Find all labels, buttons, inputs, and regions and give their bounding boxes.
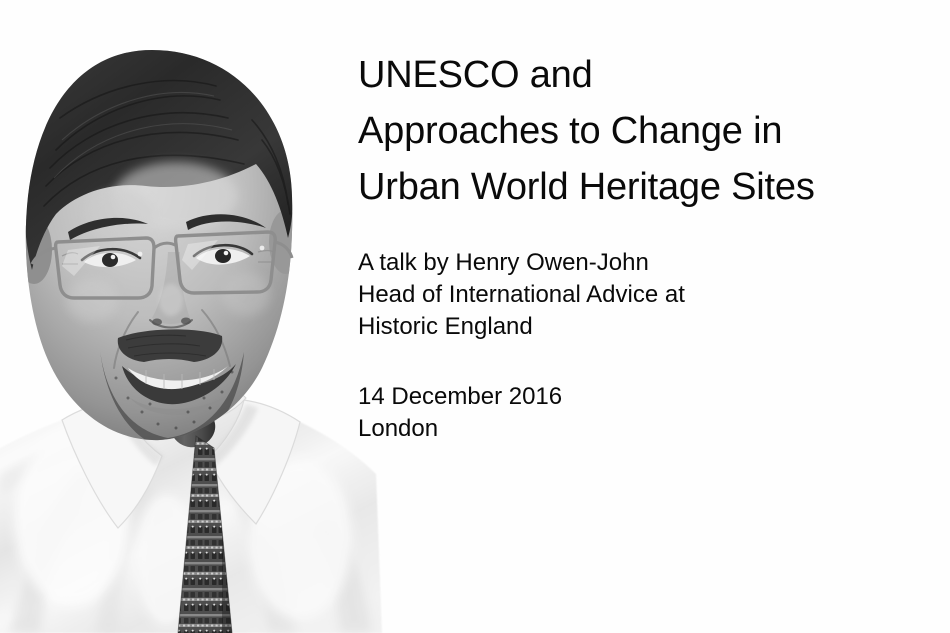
- subtitle-line-role: Head of International Advice at: [358, 279, 928, 311]
- page-title: UNESCO and Approaches to Change in Urban…: [358, 47, 928, 215]
- presentation-slide: UNESCO and Approaches to Change in Urban…: [0, 0, 950, 633]
- title-line-2: Approaches to Change in: [358, 103, 928, 159]
- speaker-subtitle: A talk by Henry Owen-John Head of Intern…: [358, 247, 928, 343]
- event-location: London: [358, 413, 928, 445]
- slide-text-block: UNESCO and Approaches to Change in Urban…: [358, 47, 928, 445]
- subtitle-line-speaker: A talk by Henry Owen-John: [358, 247, 928, 279]
- title-line-3: Urban World Heritage Sites: [358, 159, 928, 215]
- subtitle-line-organisation: Historic England: [358, 311, 928, 343]
- portrait-photo: [0, 0, 400, 633]
- event-details: 14 December 2016 London: [358, 381, 928, 445]
- title-line-1: UNESCO and: [358, 47, 928, 103]
- portrait-photo-graphic: [0, 0, 400, 633]
- event-date: 14 December 2016: [358, 381, 928, 413]
